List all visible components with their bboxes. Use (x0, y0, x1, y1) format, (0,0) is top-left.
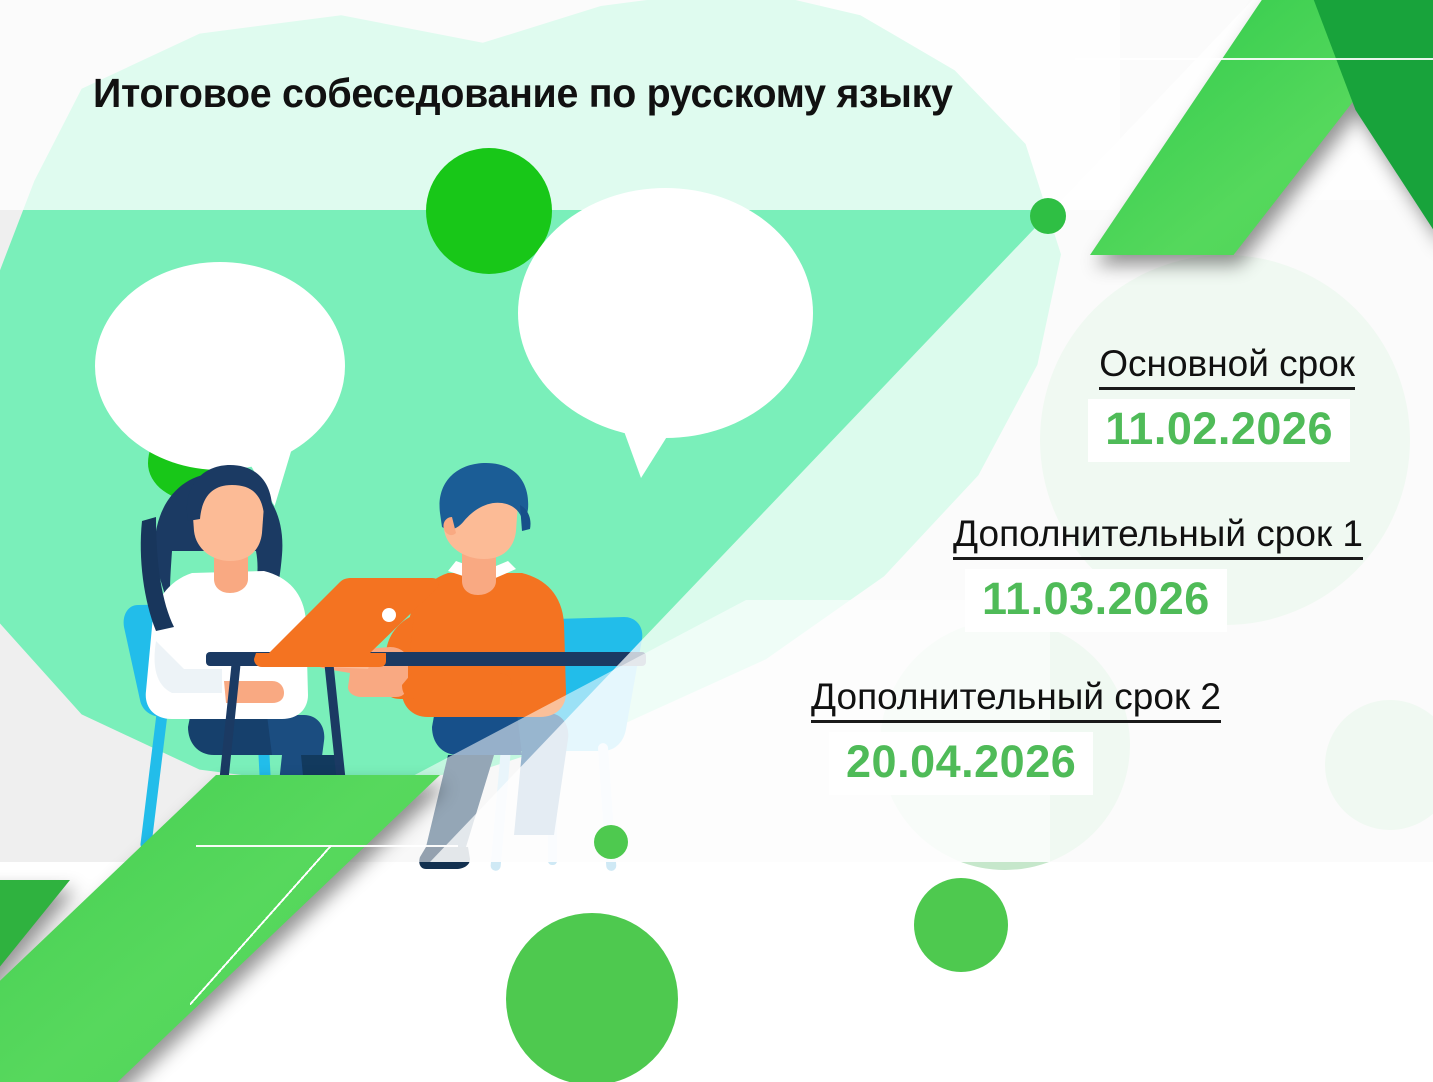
ribbon-bottom-left (0, 775, 440, 1082)
date-label: Основной срок (1099, 343, 1355, 390)
desk (206, 652, 646, 858)
laptop (254, 578, 439, 667)
green-accent-blob (148, 418, 244, 502)
date-group-additional-1: Дополнительный срок 1 11.03.2026 (953, 513, 1363, 632)
date-label-wrap: Дополнительный срок 1 (953, 513, 1363, 560)
date-label-wrap: Дополнительный срок 2 (811, 676, 1221, 723)
ribbon-top-right (1090, 0, 1433, 255)
date-group-additional-2: Дополнительный срок 2 20.04.2026 (811, 676, 1221, 795)
hairline-bottom-left (196, 845, 458, 847)
date-value: 11.02.2026 (1088, 399, 1350, 462)
man-gesturing (313, 463, 569, 869)
decorative-circle-bottom-1 (506, 913, 678, 1082)
hairline-top-right (1075, 58, 1433, 60)
hairline-bottom-left-diag (190, 845, 332, 1005)
date-label: Дополнительный срок 2 (811, 676, 1221, 723)
decorative-circle-bottom-2 (914, 878, 1008, 972)
ribbon-bottom-left-fold (0, 880, 70, 1082)
date-label-wrap: Основной срок (1088, 343, 1355, 390)
chair-left (124, 603, 286, 850)
page-title: Итоговое собеседование по русскому языку (93, 70, 953, 117)
speech-bubble-small (95, 262, 345, 470)
date-value: 11.03.2026 (965, 569, 1227, 632)
decorative-dot-middle (594, 825, 628, 859)
date-value-wrap: 11.03.2026 (953, 560, 1363, 632)
green-accent-circle (426, 148, 552, 274)
date-value: 20.04.2026 (829, 732, 1093, 795)
woman-with-laptop (141, 465, 350, 869)
decorative-pale-circle (1325, 700, 1433, 830)
chair-right (478, 617, 642, 871)
decorative-dot-top-right (1030, 198, 1066, 234)
speech-bubble-large (518, 188, 813, 438)
poster-slide: Итоговое собеседование по русскому языку… (0, 0, 1433, 1082)
speech-bubble-small-tail (230, 430, 292, 506)
two-people-at-table-illustration (96, 455, 756, 875)
date-value-wrap: 11.02.2026 (1088, 390, 1355, 462)
date-group-main: Основной срок 11.02.2026 (1088, 343, 1355, 462)
date-value-wrap: 20.04.2026 (811, 723, 1221, 795)
ribbon-top-right-fold (1310, 0, 1433, 240)
speech-bubble-large-tail (620, 400, 690, 478)
date-label: Дополнительный срок 1 (953, 513, 1363, 560)
